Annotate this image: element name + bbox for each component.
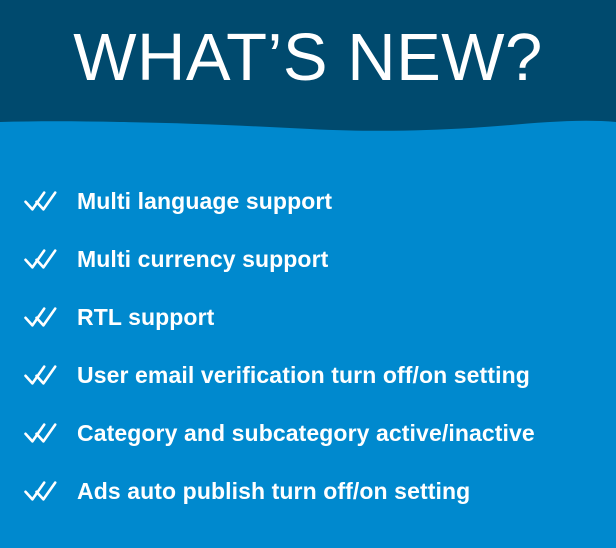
feature-label: User email verification turn off/on sett… bbox=[77, 360, 530, 390]
feature-label: RTL support bbox=[77, 302, 214, 332]
double-check-icon bbox=[24, 479, 58, 503]
list-item: User email verification turn off/on sett… bbox=[0, 358, 616, 392]
page-title: WHAT’S NEW? bbox=[0, 22, 616, 94]
double-check-icon bbox=[24, 305, 58, 329]
list-item: Category and subcategory active/inactive bbox=[0, 416, 616, 450]
list-item: Multi language support bbox=[0, 184, 616, 218]
list-item: Multi currency support bbox=[0, 242, 616, 276]
list-item: RTL support bbox=[0, 300, 616, 334]
feature-label: Multi currency support bbox=[77, 244, 328, 274]
feature-label: Category and subcategory active/inactive bbox=[77, 418, 535, 448]
feature-label: Ads auto publish turn off/on setting bbox=[77, 476, 470, 506]
list-item: Ads auto publish turn off/on setting bbox=[0, 474, 616, 508]
feature-label: Multi language support bbox=[77, 186, 332, 216]
double-check-icon bbox=[24, 247, 58, 271]
double-check-icon bbox=[24, 189, 58, 213]
double-check-icon bbox=[24, 421, 58, 445]
whats-new-banner: WHAT’S NEW? Multi language support Multi… bbox=[0, 0, 616, 548]
double-check-icon bbox=[24, 363, 58, 387]
feature-list: Multi language support Multi currency su… bbox=[0, 184, 616, 508]
